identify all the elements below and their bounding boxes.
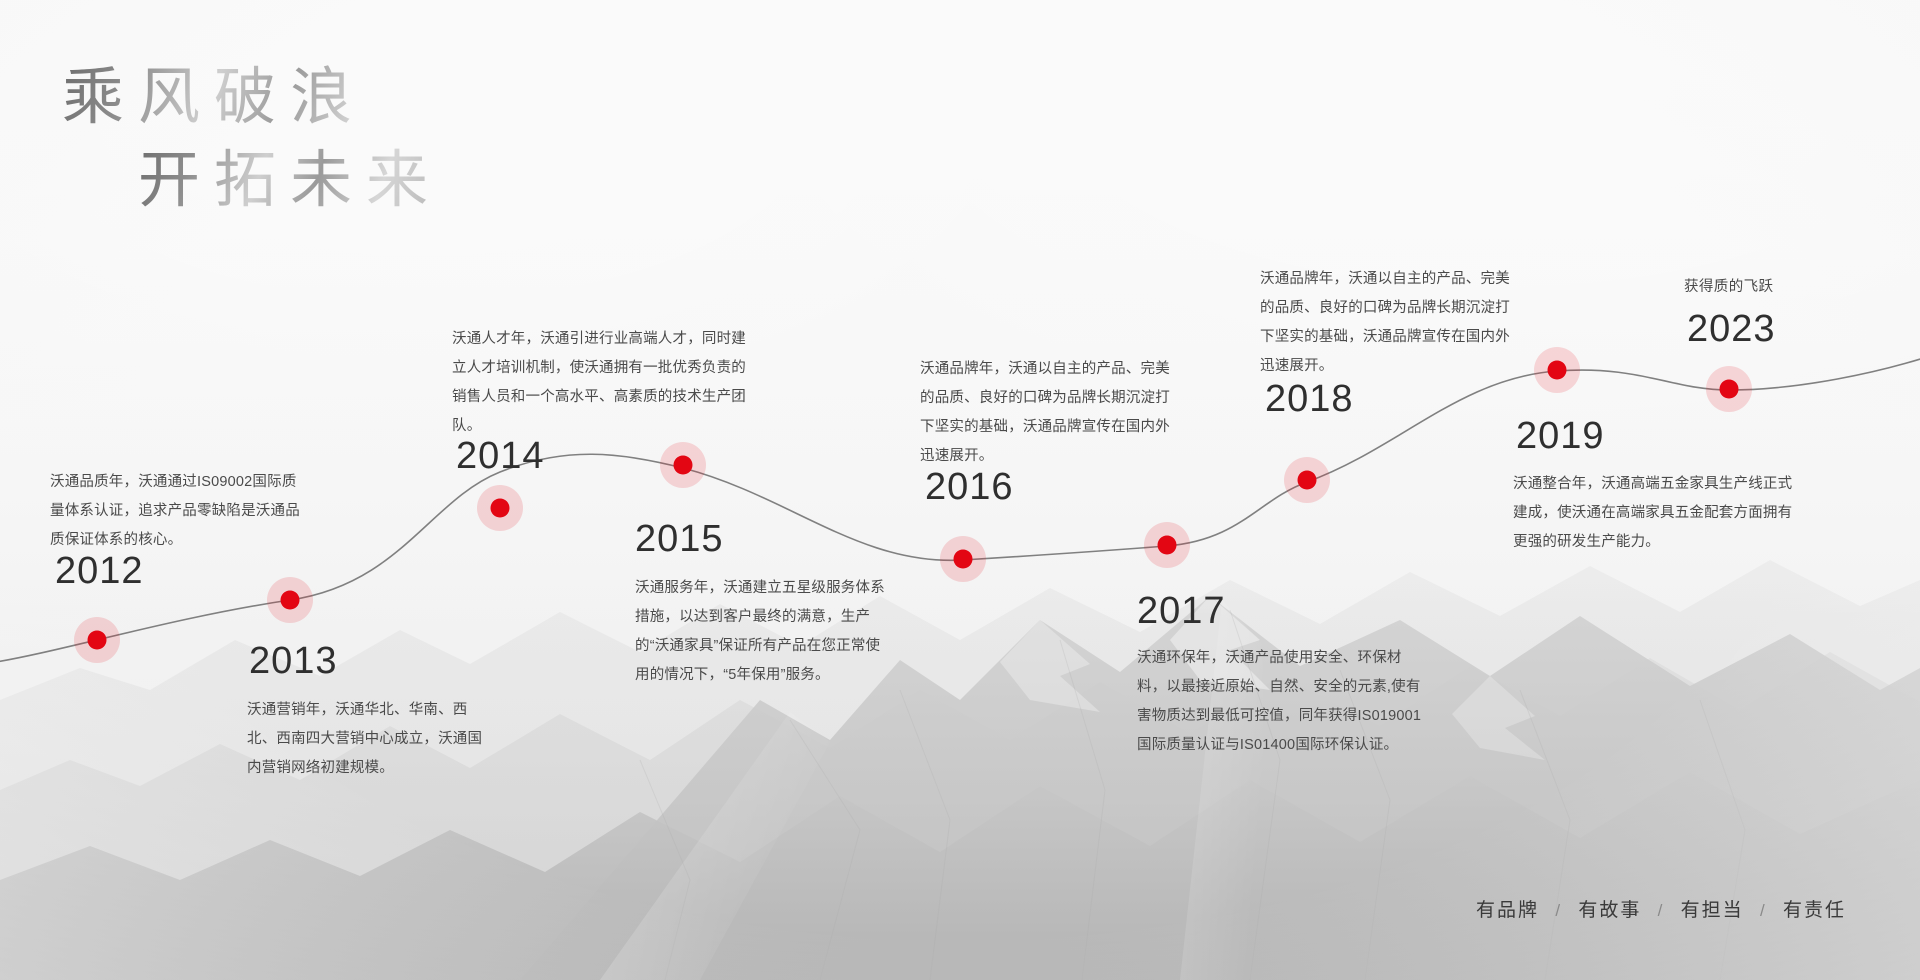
- slogan-item-2: 有担当: [1681, 900, 1744, 921]
- node-dot: [491, 499, 510, 518]
- milestone-desc-2019: 沃通整合年，沃通高端五金家具生产线正式建成，使沃通在高端家具五金配套方面拥有更强…: [1513, 470, 1803, 557]
- slogan-separator: /: [1760, 901, 1767, 920]
- node-dot: [1720, 380, 1739, 399]
- timeline-node-2023[interactable]: [1706, 366, 1752, 412]
- node-dot: [954, 550, 973, 569]
- node-dot: [1548, 361, 1567, 380]
- milestone-year-2023: 2023: [1687, 308, 1776, 351]
- milestone-desc-2015: 沃通服务年，沃通建立五星级服务体系措施，以达到客户最终的满意，生产的“沃通家具”…: [635, 574, 887, 690]
- milestone-desc-2018: 沃通品牌年，沃通以自主的产品、完美的品质、良好的口碑为品牌长期沉淀打下坚实的基础…: [1260, 265, 1512, 381]
- title-line-2: 开拓未来: [138, 145, 442, 218]
- timeline-node-2012[interactable]: [74, 617, 120, 663]
- timeline-node-2017[interactable]: [1144, 522, 1190, 568]
- timeline-node-2013[interactable]: [267, 577, 313, 623]
- slogan-separator: /: [1555, 901, 1562, 920]
- node-dot: [281, 591, 300, 610]
- slogan-item-0: 有品牌: [1476, 900, 1539, 921]
- slogan-item-3: 有责任: [1783, 900, 1846, 921]
- milestone-desc-2012: 沃通品质年，沃通通过IS09002国际质量体系认证，追求产品零缺陷是沃通品质保证…: [50, 468, 300, 555]
- milestone-year-2018: 2018: [1265, 378, 1354, 421]
- milestone-year-2016: 2016: [925, 466, 1014, 509]
- timeline-node-2018[interactable]: [1284, 457, 1330, 503]
- timeline-node-2016[interactable]: [940, 536, 986, 582]
- milestone-year-2017: 2017: [1137, 590, 1226, 633]
- timeline-node-2019[interactable]: [1534, 347, 1580, 393]
- page-title: 乘风破浪 开拓未来: [62, 62, 442, 218]
- milestone-year-2019: 2019: [1516, 415, 1605, 458]
- node-dot: [88, 631, 107, 650]
- milestone-desc-2014: 沃通人才年，沃通引进行业高端人才，同时建立人才培训机制，使沃通拥有一批优秀负责的…: [452, 325, 749, 441]
- node-dot: [1158, 536, 1177, 555]
- title-line-1: 乘风破浪: [62, 62, 442, 135]
- footer-slogan: 有品牌 / 有故事 / 有担当 / 有责任: [1476, 895, 1846, 922]
- milestone-year-2015: 2015: [635, 518, 724, 561]
- slogan-separator: /: [1658, 901, 1665, 920]
- node-dot: [674, 456, 693, 475]
- timeline-infographic: 乘风破浪 开拓未来 沃通品质年，沃通通过IS09: [0, 0, 1920, 980]
- milestone-year-2012: 2012: [55, 550, 144, 593]
- slogan-item-1: 有故事: [1578, 900, 1641, 921]
- milestone-desc-2017: 沃通环保年，沃通产品使用安全、环保材料，以最接近原始、自然、安全的元素,使有害物…: [1137, 644, 1427, 760]
- lead-note-label: 获得质的飞跃: [1684, 275, 1773, 296]
- timeline-node-2015[interactable]: [660, 442, 706, 488]
- milestone-year-2014: 2014: [456, 435, 545, 478]
- node-dot: [1298, 471, 1317, 490]
- milestone-desc-2016: 沃通品牌年，沃通以自主的产品、完美的品质、良好的口碑为品牌长期沉淀打下坚实的基础…: [920, 355, 1178, 471]
- milestone-desc-2013: 沃通营销年，沃通华北、华南、西北、西南四大营销中心成立，沃通国内营销网络初建规模…: [247, 696, 489, 783]
- timeline-node-2014[interactable]: [477, 485, 523, 531]
- milestone-year-2013: 2013: [249, 640, 338, 683]
